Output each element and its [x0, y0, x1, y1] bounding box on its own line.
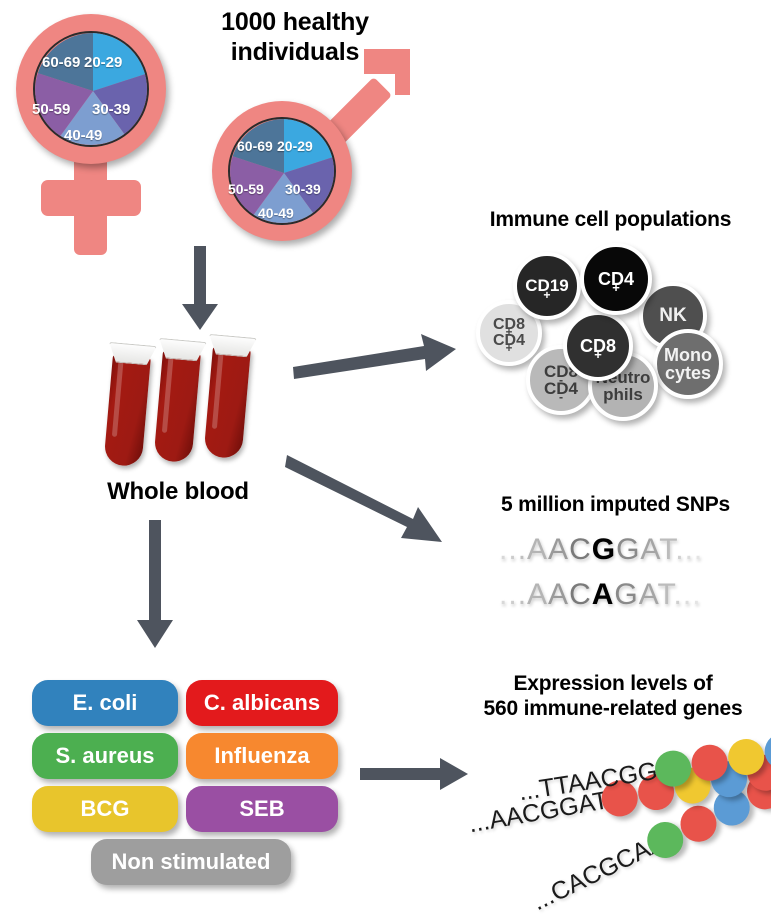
figure-canvas: 1000 healthy individuals 20-29 30-39 [0, 0, 771, 922]
female-slice-label-50-59: 50-59 [32, 101, 70, 118]
male-slice-label-60-69: 60-69 [237, 138, 273, 154]
male-slice-label-50-59: 50-59 [228, 181, 264, 197]
expression-bead [726, 736, 767, 777]
female-slice-label-20-29: 20-29 [84, 54, 122, 71]
expression-strands: ...TTAACGG ...AACGGAT ...CACGCAA [0, 0, 771, 922]
male-slice-label-30-39: 30-39 [285, 181, 321, 197]
female-slice-label-40-49: 40-49 [64, 127, 102, 144]
female-slice-label-30-39: 30-39 [92, 101, 130, 118]
expression-bead [689, 742, 730, 783]
male-slice-label-40-49: 40-49 [258, 205, 294, 221]
male-slice-label-20-29: 20-29 [277, 138, 313, 154]
female-slice-label-60-69: 60-69 [42, 54, 80, 71]
